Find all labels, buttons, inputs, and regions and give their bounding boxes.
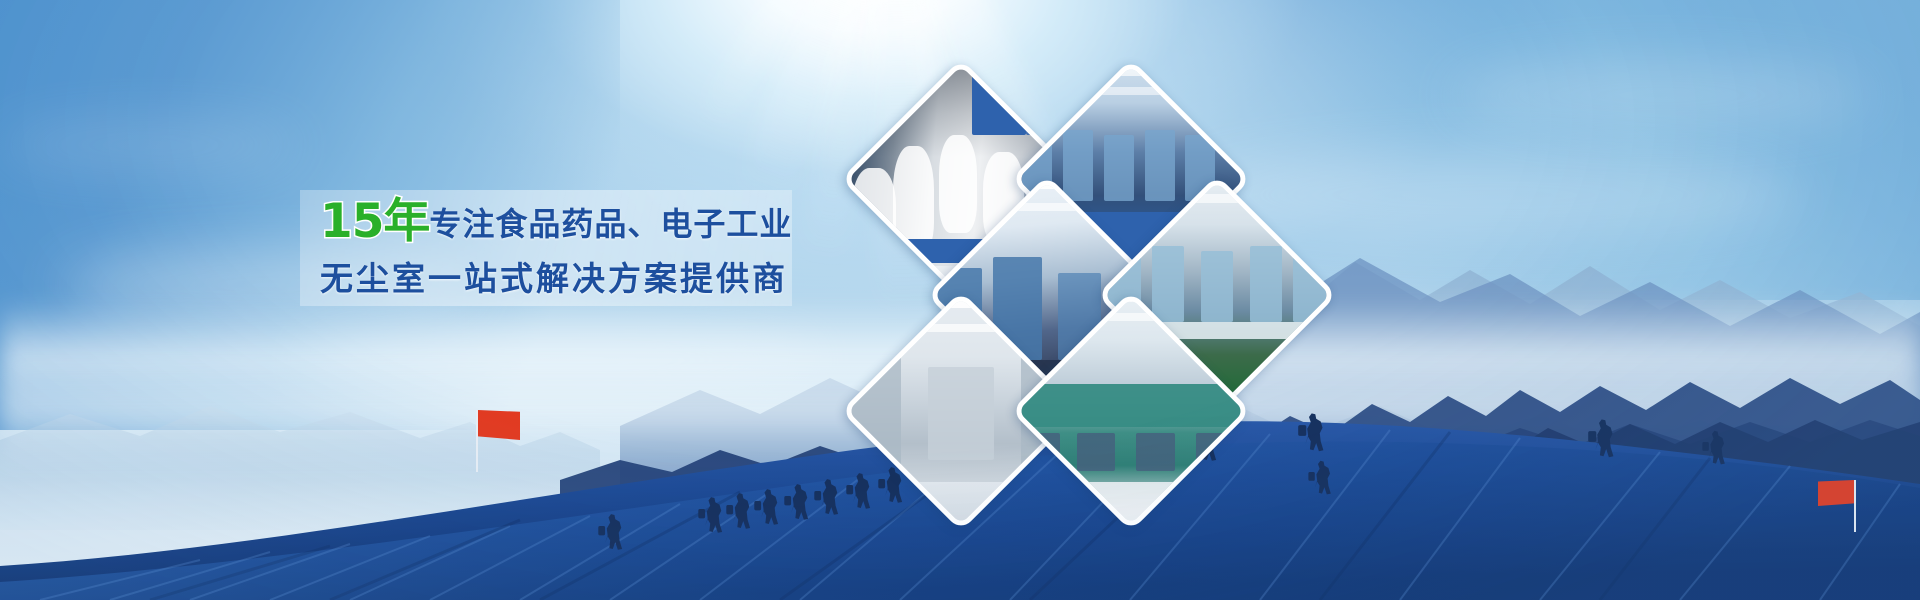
headline-line-1: 15年专注食品药品、电子工业: [320, 198, 792, 255]
cleanroom-photo-collage: [840, 70, 1290, 490]
headline-text-block: 15年专注食品药品、电子工业 无尘室一站式解决方案提供商: [312, 198, 792, 310]
hero-banner: 15年专注食品药品、电子工业 无尘室一站式解决方案提供商: [0, 0, 1920, 600]
headline-line-2-text: 无尘室一站式解决方案提供商: [320, 259, 788, 298]
sky-right-gradient: [1300, 0, 1920, 300]
headline-line-1-rest: 专注食品药品、电子工业: [429, 205, 792, 243]
cloud: [0, 120, 300, 170]
headline-line-2: 无尘室一站式解决方案提供商: [320, 255, 792, 310]
years-badge: 15年: [320, 194, 429, 249]
cloud: [1450, 60, 1870, 130]
